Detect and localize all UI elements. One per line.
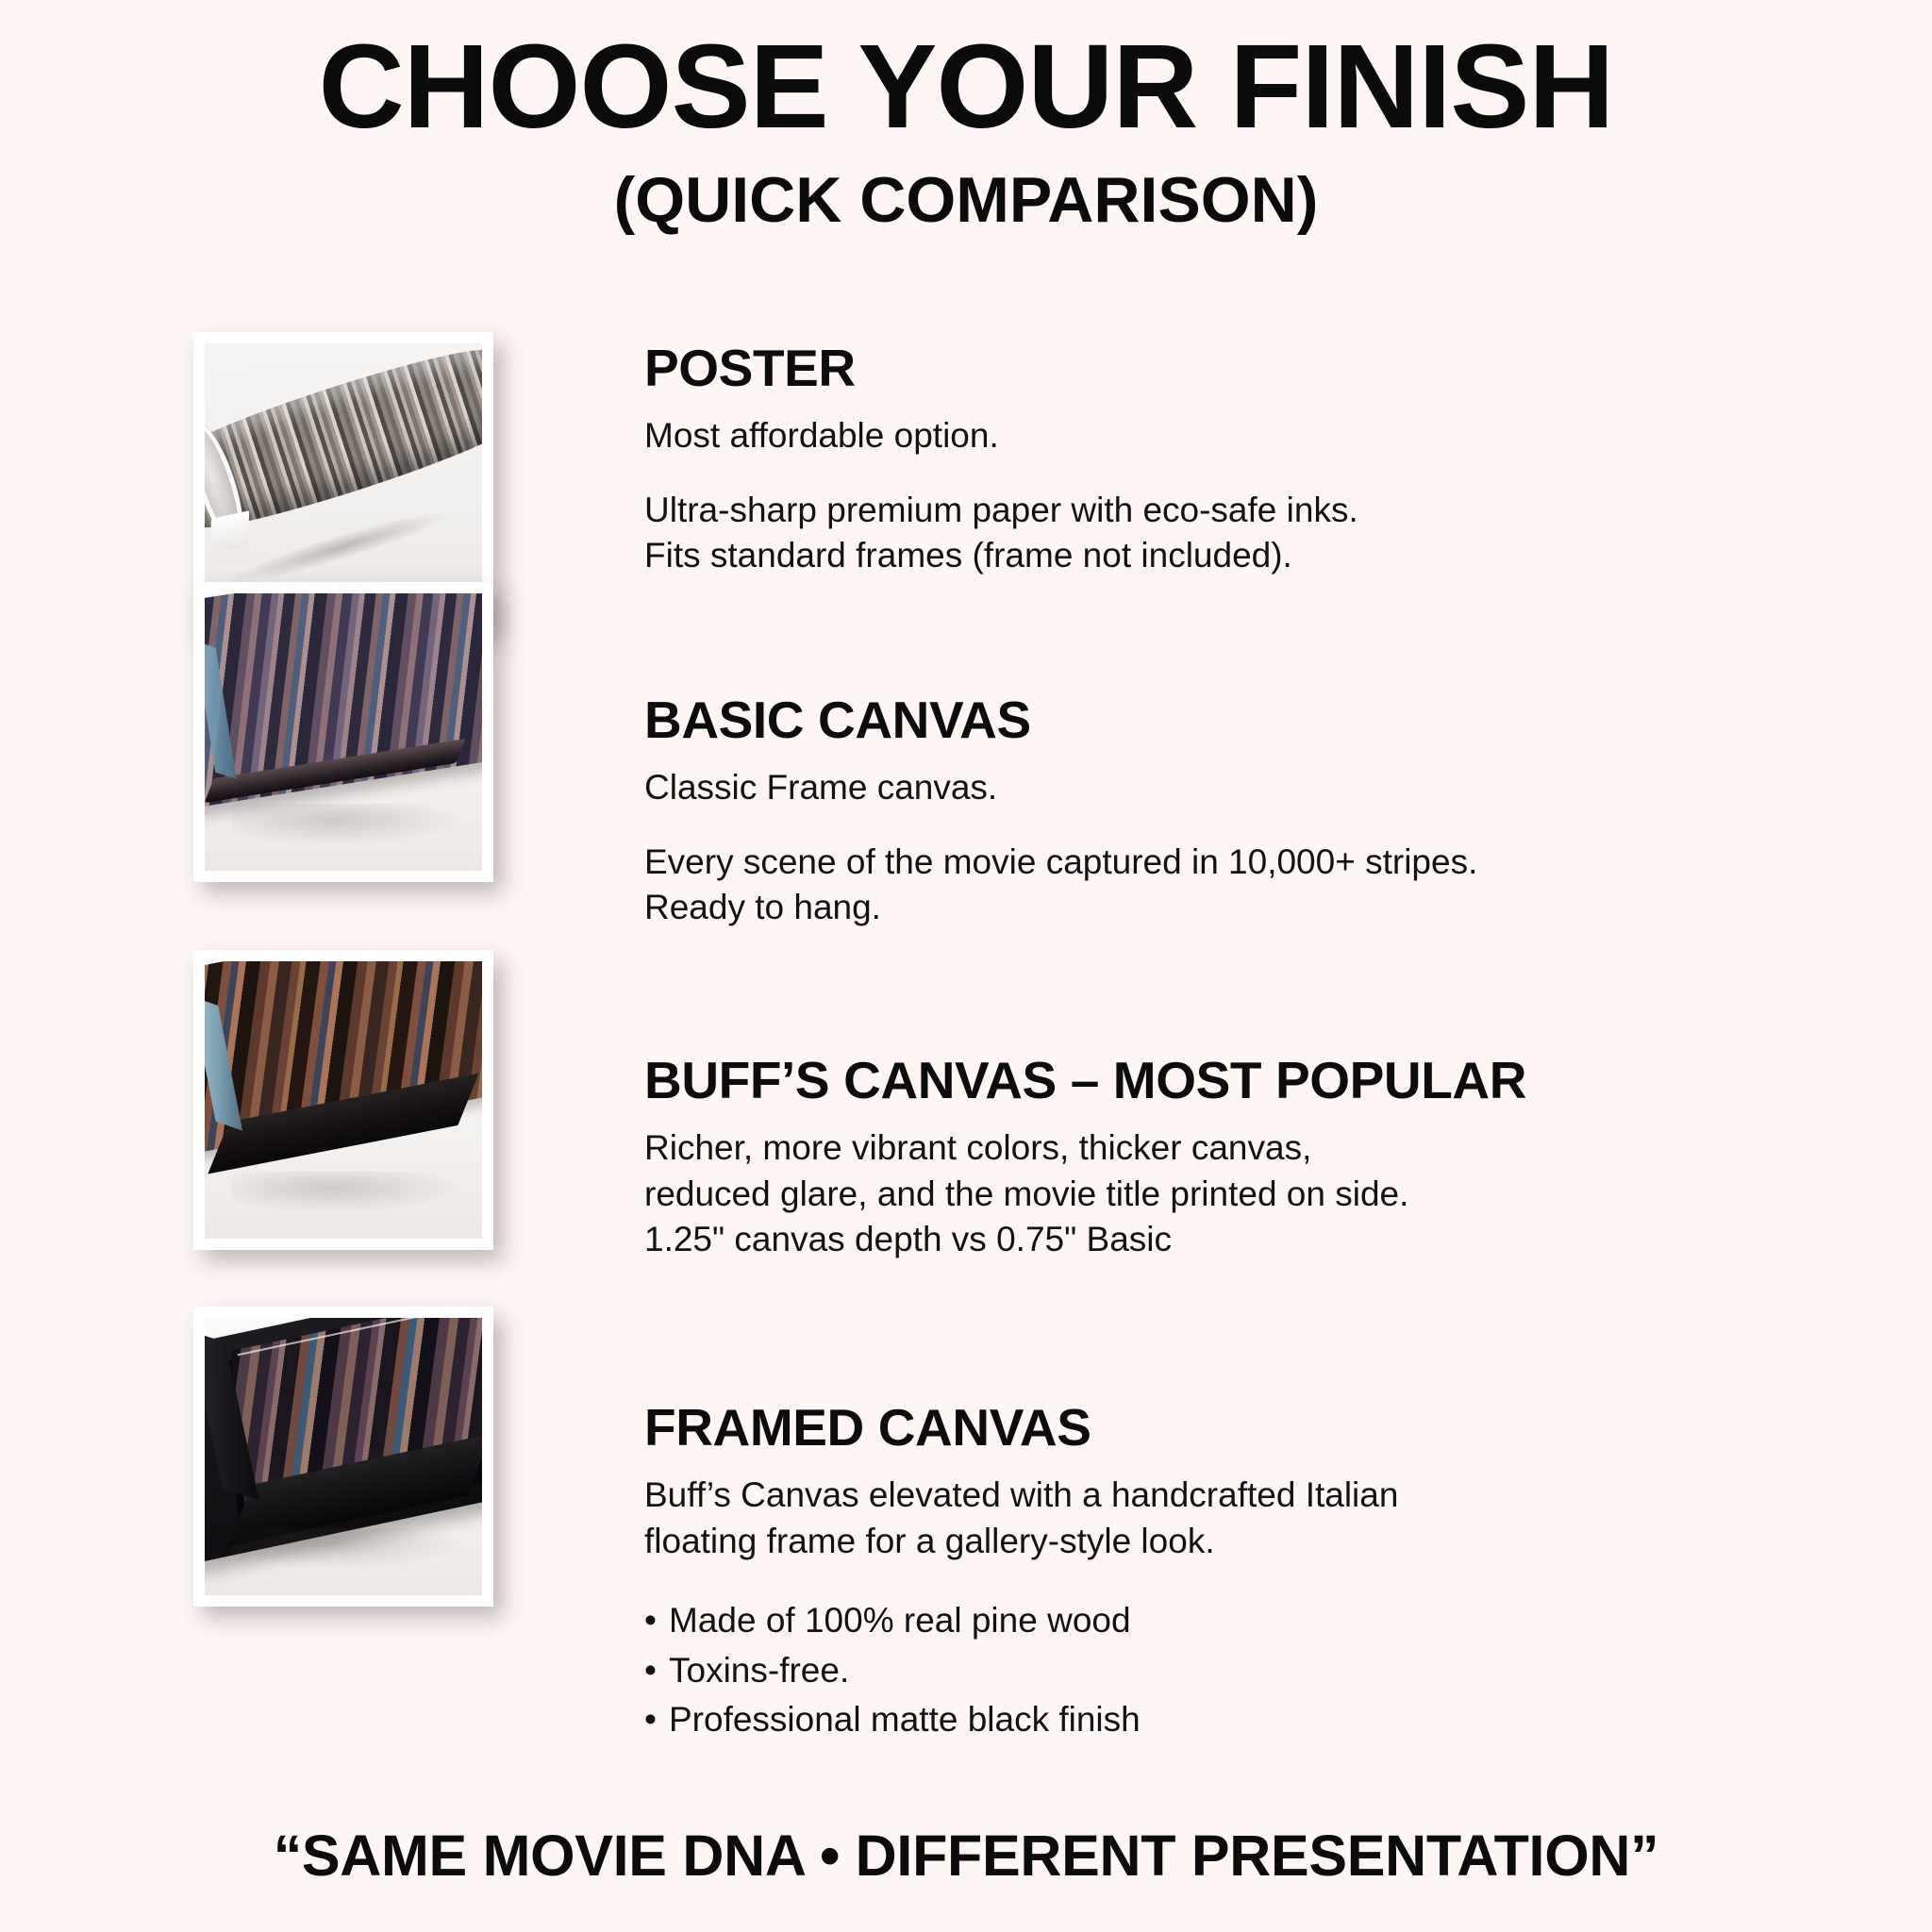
list-item: Made of 100% real pine wood bbox=[644, 1596, 1932, 1646]
basic-canvas-text-block: BASIC CANVAS Classic Frame canvas. Every… bbox=[493, 582, 1932, 931]
framed-canvas-body-line-1: Buff’s Canvas elevated with a handcrafte… bbox=[644, 1473, 1932, 1519]
poster-photo bbox=[205, 343, 482, 621]
poster-title: POSTER bbox=[644, 341, 1932, 396]
buffs-canvas-body-line-2: reduced glare, and the movie title print… bbox=[644, 1172, 1932, 1218]
framed-canvas-shadow-icon bbox=[232, 1528, 454, 1567]
framed-canvas-body-line-2: floating frame for a gallery-style look. bbox=[644, 1519, 1932, 1565]
page-subtitle: (QUICK COMPARISON) bbox=[0, 165, 1932, 236]
basic-canvas-photo bbox=[205, 593, 482, 871]
basic-canvas-photo-card bbox=[193, 582, 493, 882]
comparison-infographic: CHOOSE YOUR FINISH (QUICK COMPARISON) PO… bbox=[0, 0, 1932, 1932]
buffs-canvas-title: BUFF’S CANVAS – MOST POPULAR bbox=[644, 1054, 1932, 1108]
footer: “SAME MOVIE DNA • DIFFERENT PRESENTATION… bbox=[0, 1823, 1932, 1889]
buffs-canvas-photo-card bbox=[193, 950, 493, 1250]
options-list: POSTER Most affordable option. Ultra-sha… bbox=[0, 332, 1932, 1674]
buffs-canvas-body: Richer, more vibrant colors, thicker can… bbox=[644, 1125, 1932, 1263]
poster-lead: Most affordable option. bbox=[644, 413, 1932, 459]
list-item: Professional matte black finish bbox=[644, 1695, 1932, 1745]
buffs-canvas-shadow-icon bbox=[232, 1172, 454, 1210]
option-row-buffs-canvas: BUFF’S CANVAS – MOST POPULAR Richer, mor… bbox=[0, 950, 1932, 1307]
framed-canvas-photo bbox=[205, 1318, 482, 1595]
basic-canvas-body: Every scene of the movie captured in 10,… bbox=[644, 840, 1932, 932]
buffs-canvas-body-line-1: Richer, more vibrant colors, thicker can… bbox=[644, 1125, 1932, 1172]
page-title: CHOOSE YOUR FINISH bbox=[0, 26, 1932, 148]
basic-canvas-body-line-2: Ready to hang. bbox=[644, 885, 1932, 931]
poster-text-block: POSTER Most affordable option. Ultra-sha… bbox=[493, 332, 1932, 579]
option-row-framed-canvas: FRAMED CANVAS Buff’s Canvas elevated wit… bbox=[0, 1307, 1932, 1674]
poster-body-line-1: Ultra-sharp premium paper with eco-safe … bbox=[644, 488, 1932, 534]
option-row-poster: POSTER Most affordable option. Ultra-sha… bbox=[0, 332, 1932, 582]
framed-canvas-body: Buff’s Canvas elevated with a handcrafte… bbox=[644, 1473, 1932, 1565]
buffs-canvas-body-line-3: 1.25" canvas depth vs 0.75" Basic bbox=[644, 1217, 1932, 1263]
poster-spacer bbox=[644, 459, 1932, 488]
poster-body: Ultra-sharp premium paper with eco-safe … bbox=[644, 488, 1932, 580]
footer-tagline: “SAME MOVIE DNA • DIFFERENT PRESENTATION… bbox=[0, 1823, 1932, 1889]
framed-canvas-bullet-list: Made of 100% real pine wood Toxins-free.… bbox=[644, 1596, 1932, 1745]
basic-canvas-shadow-icon bbox=[232, 804, 454, 842]
basic-canvas-lead: Classic Frame canvas. bbox=[644, 765, 1932, 811]
framed-canvas-text-block: FRAMED CANVAS Buff’s Canvas elevated wit… bbox=[493, 1307, 1932, 1745]
option-row-basic-canvas: BASIC CANVAS Classic Frame canvas. Every… bbox=[0, 582, 1932, 950]
basic-canvas-body-line-1: Every scene of the movie captured in 10,… bbox=[644, 840, 1932, 886]
poster-body-line-2: Fits standard frames (frame not included… bbox=[644, 533, 1932, 579]
list-item: Toxins-free. bbox=[644, 1646, 1932, 1696]
basic-canvas-title: BASIC CANVAS bbox=[644, 693, 1932, 748]
buffs-canvas-photo bbox=[205, 961, 482, 1239]
framed-canvas-photo-card bbox=[193, 1307, 493, 1607]
basic-canvas-spacer bbox=[644, 811, 1932, 840]
buffs-canvas-text-block: BUFF’S CANVAS – MOST POPULAR Richer, mor… bbox=[493, 950, 1932, 1263]
framed-canvas-title: FRAMED CANVAS bbox=[644, 1401, 1932, 1456]
header: CHOOSE YOUR FINISH (QUICK COMPARISON) bbox=[0, 0, 1932, 235]
